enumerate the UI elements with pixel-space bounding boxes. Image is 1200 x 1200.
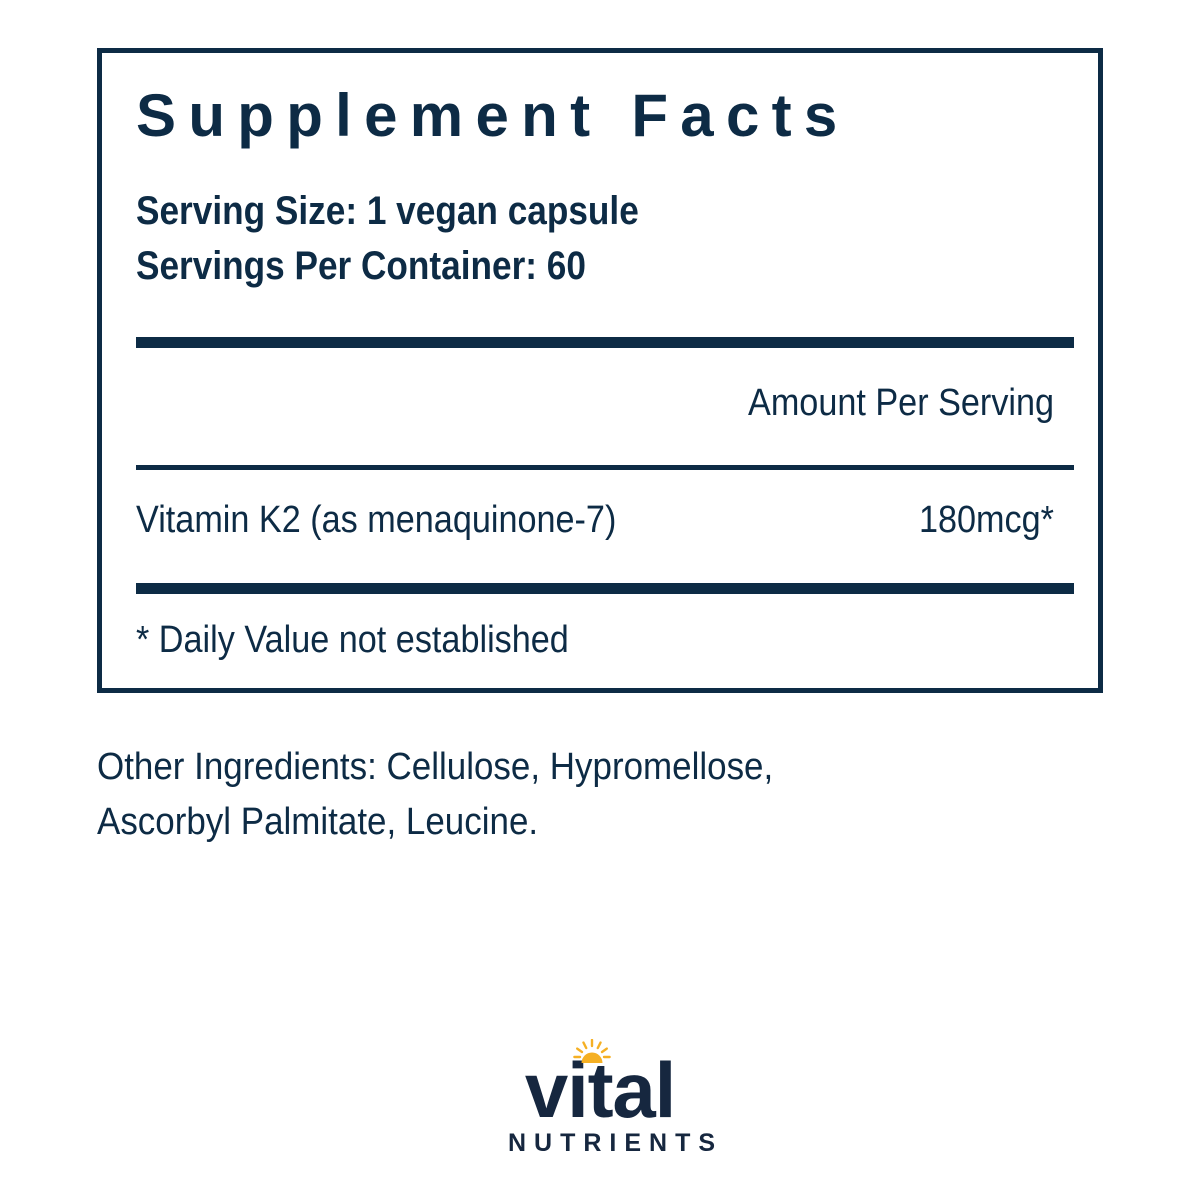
brand-logo: vital NUTRIENTS	[0, 1055, 1200, 1165]
supplement-facts-panel: Supplement Facts Serving Size: 1 vegan c…	[97, 48, 1103, 693]
divider-thick-bottom	[136, 583, 1074, 594]
serving-size-label: Serving Size: 1 vegan capsule	[136, 191, 639, 231]
page-title: Supplement Facts	[136, 86, 850, 146]
brand-subtitle: NUTRIENTS	[500, 1131, 700, 1156]
logo-stack: vital NUTRIENTS	[500, 1055, 700, 1156]
table-row: Vitamin K2 (as menaquinone-7) 180mcg*	[136, 501, 1054, 547]
amount-per-serving-header: Amount Per Serving	[748, 384, 1054, 422]
brand-wordmark: vital	[525, 1055, 675, 1127]
nutrient-amount: 180mcg*	[919, 501, 1054, 539]
other-ingredients-text: Other Ingredients: Cellulose, Hypromello…	[97, 740, 907, 850]
divider-thin	[136, 465, 1074, 470]
panel-content: Supplement Facts Serving Size: 1 vegan c…	[135, 53, 1075, 688]
daily-value-footnote: * Daily Value not established	[136, 621, 569, 659]
nutrient-name: Vitamin K2 (as menaquinone-7)	[136, 501, 616, 539]
divider-thick-top	[136, 337, 1074, 348]
brand-wordmark-text: vital	[525, 1046, 675, 1134]
servings-per-container-label: Servings Per Container: 60	[136, 246, 586, 286]
supplement-facts-page: Supplement Facts Serving Size: 1 vegan c…	[0, 0, 1200, 1200]
